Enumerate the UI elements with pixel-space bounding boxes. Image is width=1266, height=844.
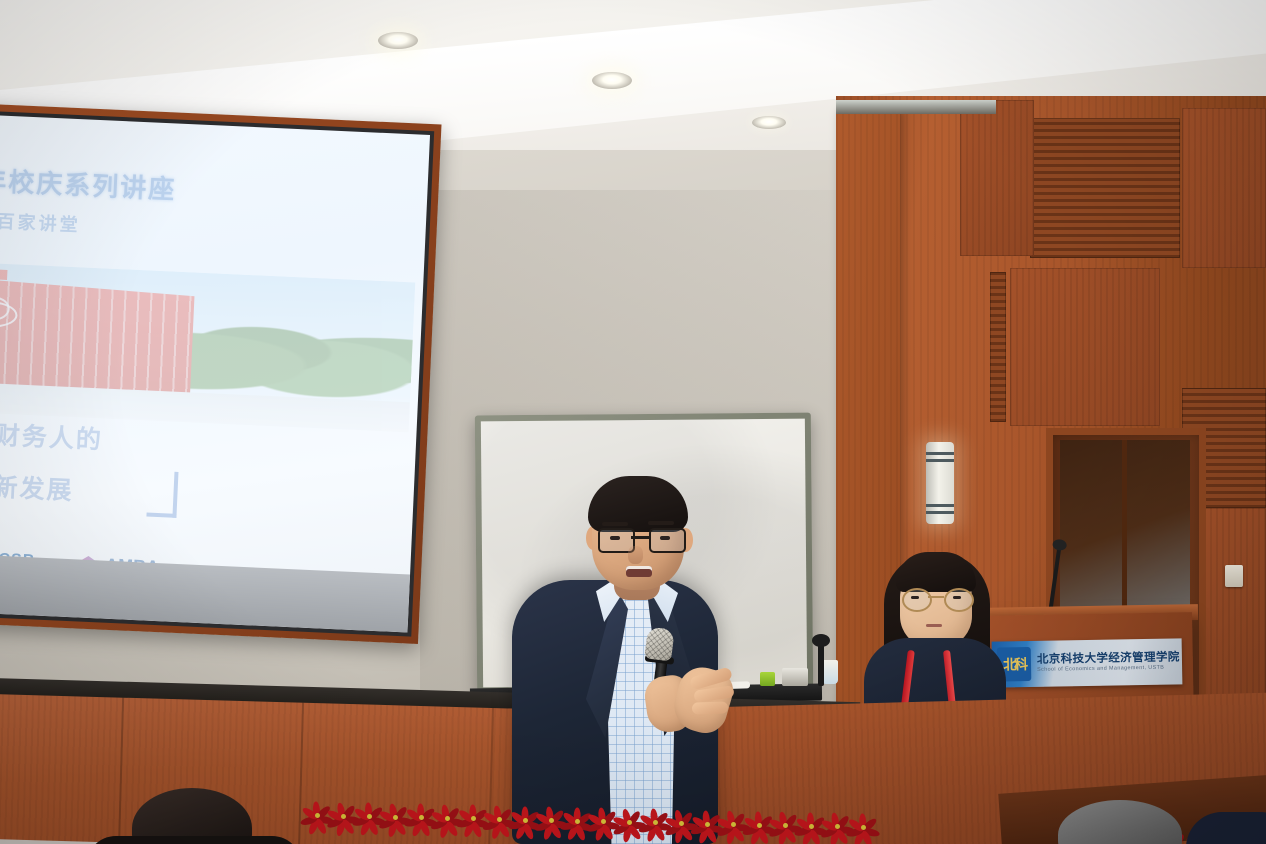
whiteboard-eraser[interactable] <box>782 668 808 686</box>
wood-louver-panel <box>990 272 1006 422</box>
mic-stand-head <box>812 634 830 647</box>
wood-louver-panel <box>1030 118 1180 258</box>
poinsettia-flower <box>846 814 880 840</box>
wall-switch-plate[interactable] <box>1225 565 1243 587</box>
wall-sconce <box>926 442 954 524</box>
speaker-mouth <box>626 566 652 577</box>
ceiling-downlight <box>378 32 418 49</box>
slide-title-line2: 业新定位与新发展 <box>0 461 378 521</box>
projection-screen: 大学70周年校庆系列讲座 学院专项中心·百家讲堂 经济背景下财务人的 业新定位与… <box>0 100 442 644</box>
photo-flag <box>0 269 7 280</box>
wood-panel <box>960 100 1034 256</box>
lecture-hall-photo: 大学70周年校庆系列讲座 学院专项中心·百家讲堂 经济背景下财务人的 业新定位与… <box>0 0 1266 844</box>
mic-stand-base <box>818 642 824 686</box>
speaker-eye <box>610 536 620 540</box>
host-eye <box>953 596 961 599</box>
podium-sign-english: School of Economics and Management, USTB <box>1037 666 1182 674</box>
ceiling-downlight <box>592 72 632 89</box>
screen-border: 大学70周年校庆系列讲座 学院专项中心·百家讲堂 经济背景下财务人的 业新定位与… <box>0 107 434 636</box>
speaker-eyebrow <box>648 521 674 525</box>
host-eye <box>911 596 919 599</box>
green-cup[interactable] <box>760 672 775 686</box>
podium-sign-chinese: 北京科技大学经济管理学院 <box>1037 651 1182 666</box>
speaker-finger <box>692 701 728 714</box>
presentation-slide: 大学70周年校庆系列讲座 学院专项中心·百家讲堂 经济背景下财务人的 业新定位与… <box>0 112 430 633</box>
audience-shoulder <box>86 836 302 844</box>
slide-corner-bracket <box>146 471 178 518</box>
wood-panel <box>1182 108 1266 268</box>
screen-frame: 大学70周年校庆系列讲座 学院专项中心·百家讲堂 经济背景下财务人的 业新定位与… <box>0 100 442 644</box>
microphone-head-icon <box>644 626 675 661</box>
slide-heading-line1: 大学70周年校庆系列讲座 <box>0 155 384 216</box>
podium-sign: 北科 北京科技大学经济管理学院 School of Economics and … <box>992 638 1183 687</box>
paper-cup[interactable] <box>822 660 838 684</box>
wood-panel <box>1010 268 1160 426</box>
speaker-eye <box>660 536 670 540</box>
host-mouth <box>926 624 942 627</box>
speaker-nose <box>628 546 643 564</box>
wood-cornice <box>836 100 996 114</box>
speaker-eyebrow <box>602 522 628 526</box>
slide-photo-gymnasium <box>0 259 415 432</box>
ceiling-downlight <box>752 116 786 129</box>
